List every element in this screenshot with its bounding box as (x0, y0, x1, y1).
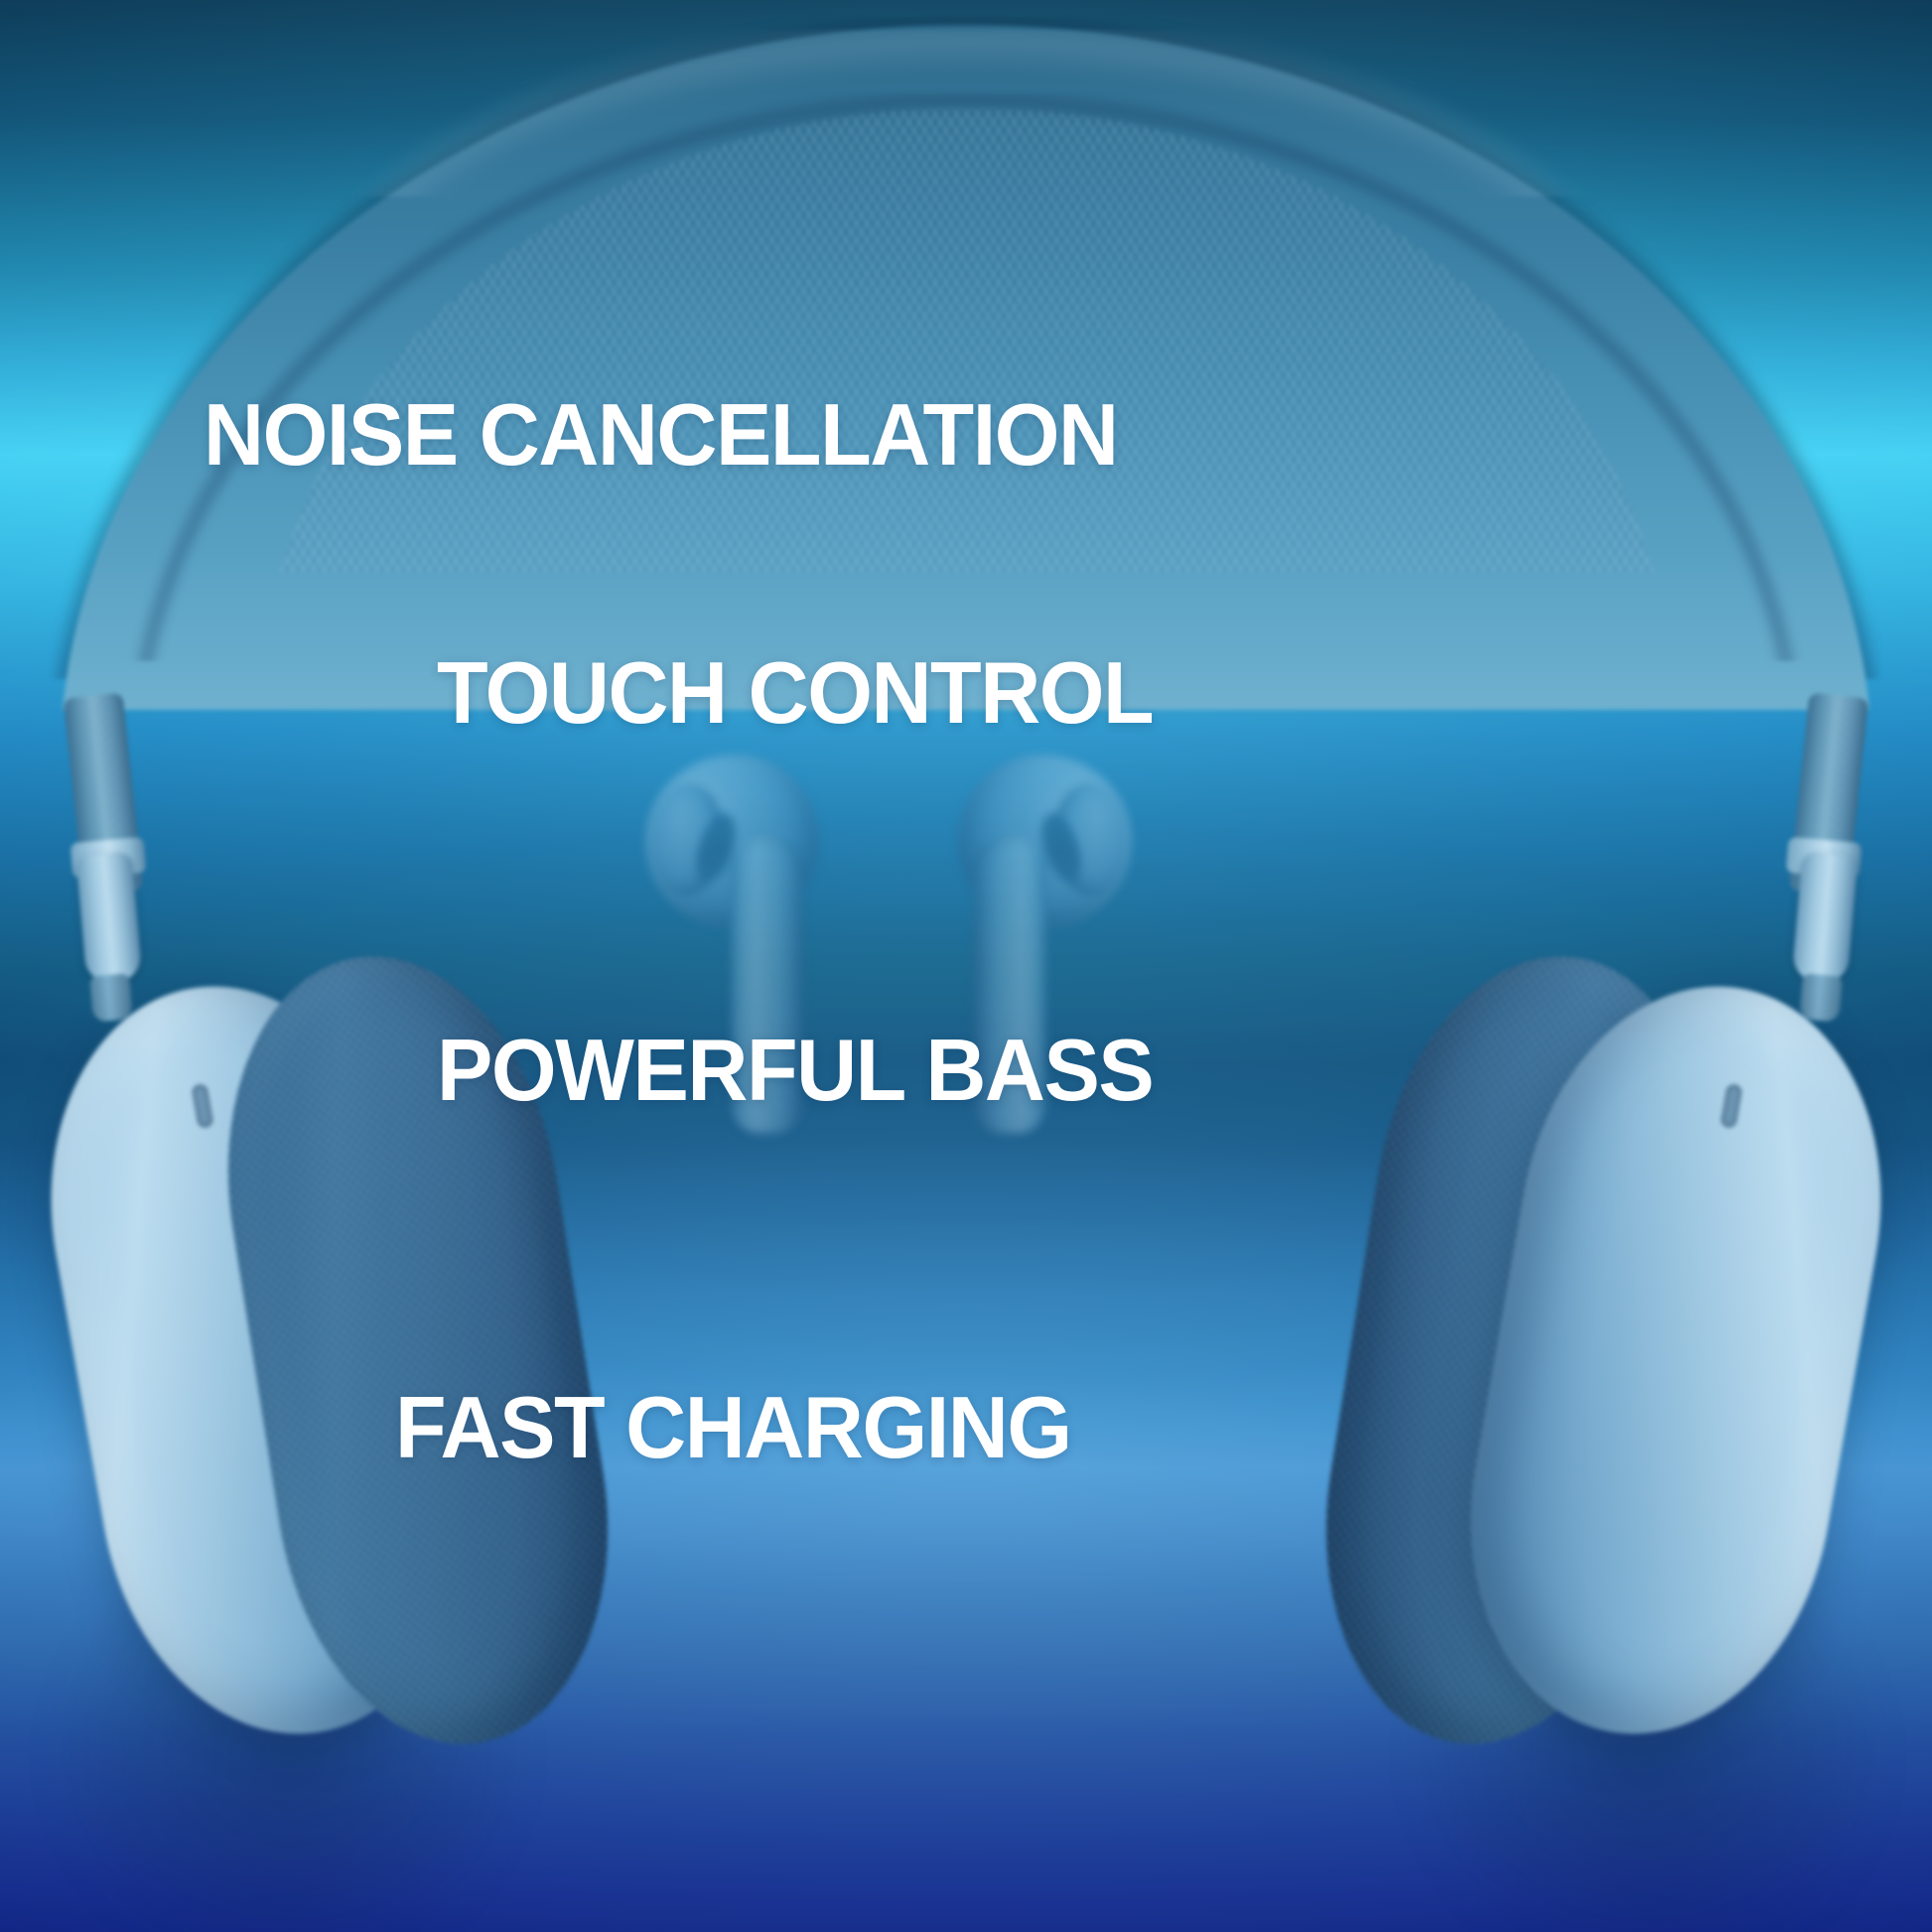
feature-label-powerful-bass: POWERFUL BASS (437, 1027, 1153, 1114)
feature-label-noise-cancellation: NOISE CANCELLATION (204, 391, 1118, 479)
promo-canvas: NOISE CANCELLATION TOUCH CONTROL POWERFU… (0, 0, 1932, 1932)
feature-label-touch-control: TOUCH CONTROL (437, 649, 1153, 737)
feature-text-block: NOISE CANCELLATION TOUCH CONTROL POWERFU… (0, 0, 1932, 1932)
feature-label-fast-charging: FAST CHARGING (395, 1384, 1071, 1471)
